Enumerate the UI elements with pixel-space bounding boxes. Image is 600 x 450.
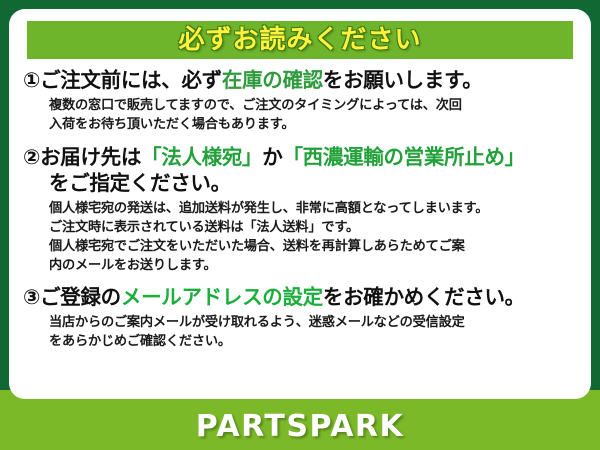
- notice-card: 必ずお読みください ①ご注文前には、必ず在庫の確認をお願いします。 複数の窓口で…: [9, 9, 591, 399]
- section-2-headline-highlight-2: 「西濃運輸の営業所止め」: [282, 145, 524, 169]
- section-2-number: ②: [23, 145, 40, 169]
- section-1-headline: ①ご注文前には、必ず在庫の確認をお願いします。: [23, 67, 579, 94]
- brand-logo: PARTSPARK: [0, 409, 600, 444]
- section-2-headline-part-3: か: [262, 145, 282, 169]
- page-title: 必ずお読みください: [178, 27, 421, 53]
- section-2-headline-highlight-1: 「法人様宛」: [141, 145, 262, 169]
- section-3-number: ③: [23, 285, 40, 309]
- notice-banner: 必ずお読みください ①ご注文前には、必ず在庫の確認をお願いします。 複数の窓口で…: [0, 0, 600, 450]
- section-3-headline: ③ご登録のメールアドレスの設定をお確かめください。: [23, 284, 579, 311]
- section-1-headline-highlight: 在庫の確認: [222, 68, 323, 92]
- notice-title-bar: 必ずお読みください: [27, 21, 573, 59]
- section-3-headline-part-3: をお確かめください。: [323, 285, 525, 309]
- section-1-headline-part-3: をお願いします。: [323, 68, 483, 92]
- notice-section-1: ①ご注文前には、必ず在庫の確認をお願いします。 複数の窓口で販売してますので、ご…: [23, 67, 579, 134]
- notice-content: ①ご注文前には、必ず在庫の確認をお願いします。 複数の窓口で販売してますので、ご…: [9, 65, 591, 355]
- section-2-headline-line2: をご指定ください。: [49, 170, 579, 197]
- section-2-headline-part-1: お届け先は: [40, 145, 141, 169]
- section-3-headline-highlight: メールアドレスの設定: [121, 285, 323, 309]
- section-1-body: 複数の窓口で販売してますので、ご注文のタイミングによっては、次回 入荷をお待ち頂…: [49, 96, 579, 134]
- section-3-body: 当店からのご案内メールが受け取れるよう、迷惑メールなどの受信設定 をあらかじめご…: [49, 313, 579, 351]
- section-2-headline: ②お届け先は「法人様宛」か「西濃運輸の営業所止め」: [23, 144, 579, 171]
- notice-section-2: ②お届け先は「法人様宛」か「西濃運輸の営業所止め」 をご指定ください。 個人様宅…: [23, 144, 579, 275]
- section-1-headline-part-1: ご注文前には、必ず: [40, 68, 222, 92]
- section-1-number: ①: [23, 68, 40, 92]
- section-3-headline-part-1: ご登録の: [40, 285, 121, 309]
- notice-section-3: ③ご登録のメールアドレスの設定をお確かめください。 当店からのご案内メールが受け…: [23, 284, 579, 351]
- section-2-body: 個人様宅宛の発送は、追加送料が発生し、非常に高額となってしまいます。 ご注文時に…: [49, 199, 579, 275]
